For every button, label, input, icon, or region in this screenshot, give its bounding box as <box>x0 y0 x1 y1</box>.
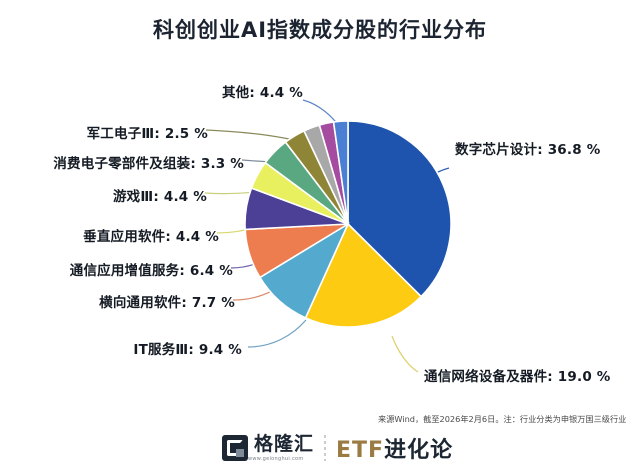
slice-label-it-services: IT服务Ⅲ: 9.4 % <box>133 338 242 358</box>
slice-label-consumer-electronics-components: 消费电子零部件及组装: 3.3 % <box>53 152 244 172</box>
page-title: 科创创业AI指数成分股的行业分布 <box>0 14 640 44</box>
slice-label-digital-chip-design: 数字芯片设计: 36.8 % <box>455 138 600 158</box>
slice-label-others: 其他: 4.4 % <box>222 81 303 101</box>
chart-canvas: 科创创业AI指数成分股的行业分布 数字 <box>0 0 640 469</box>
brand-bar: 格隆汇 www.gelonghui.com ETF进化论 <box>222 430 453 466</box>
gelonghui-logo-icon <box>222 435 248 461</box>
slice-label-comm-app-value-added-services: 通信应用增值服务: 6.4 % <box>70 259 233 279</box>
product-name: ETF进化论 <box>336 432 453 464</box>
pie-svg <box>243 96 453 356</box>
slice-label-vertical-application-software: 垂直应用软件: 4.4 % <box>83 225 219 245</box>
brand-name: 格隆汇 <box>254 435 314 454</box>
slice-label-horizontal-general-software: 横向通用软件: 7.7 % <box>99 291 235 311</box>
pie-chart <box>243 96 453 356</box>
brand-url: www.gelonghui.com <box>248 456 314 462</box>
brand-divider <box>324 435 326 461</box>
source-note: 来源Wind，截至2026年2月6日。注：行业分类为申银万国三级行业 <box>378 414 636 426</box>
slice-label-gaming: 游戏Ⅲ: 4.4 % <box>113 185 207 205</box>
product-name-latin: ETF <box>336 438 384 463</box>
product-name-cn: 进化论 <box>384 438 453 463</box>
brand-text-block: 格隆汇 www.gelonghui.com <box>248 435 314 462</box>
slice-label-military-electronics: 军工电子Ⅲ: 2.5 % <box>87 122 208 142</box>
slice-label-comm-network-equipment: 通信网络设备及器件: 19.0 % <box>424 365 611 385</box>
